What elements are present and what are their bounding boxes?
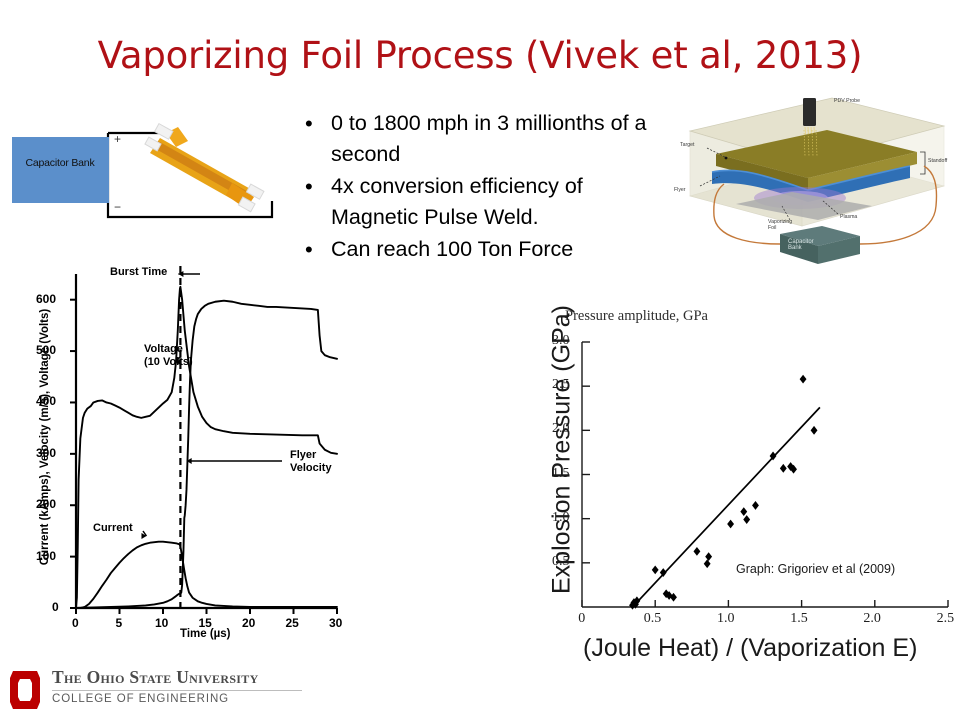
osu-college-name: COLLEGE OF ENGINEERING bbox=[52, 693, 302, 705]
scatter-x-tick: 2.0 bbox=[863, 611, 881, 627]
osc-y-tick: 300 bbox=[36, 446, 56, 460]
osu-wordmark: The Ohio State University COLLEGE OF ENG… bbox=[52, 667, 302, 705]
scatter-y-tick: 3.0 bbox=[552, 333, 570, 349]
scatter-x-tick: 0 bbox=[578, 611, 585, 627]
scatter-y-tick: 0.5 bbox=[552, 554, 570, 570]
pdv-probe-label: PDV Probe bbox=[834, 98, 860, 104]
pressure-scatter-chart: Pressure amplitude, GPa Explosion Pressu… bbox=[525, 300, 960, 660]
foil-specimen bbox=[145, 124, 264, 212]
oscilloscope-chart: Current (kAmps), Velocity (m/s), Voltage… bbox=[0, 246, 345, 656]
page-title: Vaporizing Foil Process (Vivek et al, 20… bbox=[0, 34, 960, 77]
osc-y-tick: 600 bbox=[36, 292, 56, 306]
list-item: • 0 to 1800 mph in 3 millionths of a sec… bbox=[305, 108, 675, 170]
capacitor-bank-diagram: Capacitor Bank + − bbox=[8, 105, 293, 225]
block-o-icon bbox=[8, 668, 42, 712]
scatter-x-tick: 1.5 bbox=[790, 611, 808, 627]
list-item: • Can reach 100 Ton Force bbox=[305, 234, 675, 265]
list-item: • 4x conversion efficiency of Magnetic P… bbox=[305, 171, 675, 233]
osc-y-tick: 100 bbox=[36, 549, 56, 563]
ohio-state-logo: The Ohio State University COLLEGE OF ENG… bbox=[8, 666, 308, 714]
osu-university-name: The Ohio State University bbox=[52, 667, 302, 688]
osc-x-tick: 25 bbox=[286, 616, 299, 630]
osc-x-tick: 5 bbox=[116, 616, 123, 630]
osc-x-tick: 0 bbox=[72, 616, 79, 630]
scatter-x-tick: 1.0 bbox=[717, 611, 735, 627]
osc-x-tick: 15 bbox=[199, 616, 212, 630]
scatter-source-annotation: Graph: Grigoriev et al (2009) bbox=[736, 562, 895, 576]
pdv-probe-body bbox=[803, 98, 816, 126]
osc-annotation: FlyerVelocity bbox=[290, 449, 332, 475]
plasma-label: Plasma bbox=[840, 214, 857, 220]
vaporizing-foil-label: Vaporizing Foil bbox=[768, 219, 792, 231]
osc-y-tick: 400 bbox=[36, 394, 56, 408]
osc-y-tick: 200 bbox=[36, 497, 56, 511]
scatter-y-tick: 2.0 bbox=[552, 421, 570, 437]
bullet-text: 0 to 1800 mph in 3 millionths of a secon… bbox=[331, 108, 675, 170]
schematic-capacitor-bank-label: Capacitor Bank bbox=[788, 239, 814, 251]
scatter-chart-title: Pressure amplitude, GPa bbox=[565, 308, 708, 325]
scatter-y-tick: 1.5 bbox=[552, 466, 570, 482]
scatter-x-tick: 0.5 bbox=[644, 611, 662, 627]
osc-x-tick: 20 bbox=[242, 616, 255, 630]
osc-x-tick: 30 bbox=[329, 616, 342, 630]
slide-canvas: Vaporizing Foil Process (Vivek et al, 20… bbox=[0, 0, 960, 720]
negative-terminal-label: − bbox=[114, 200, 121, 214]
bullet-text: Can reach 100 Ton Force bbox=[331, 234, 573, 265]
osc-annotation: Current bbox=[93, 522, 133, 535]
scatter-x-axis-label: (Joule Heat) / (Vaporization E) bbox=[583, 634, 917, 663]
standoff-label: Standoff bbox=[928, 158, 947, 164]
scatter-x-tick: 2.5 bbox=[937, 611, 955, 627]
scatter-y-tick: 1.0 bbox=[552, 510, 570, 526]
bullet-marker-icon: • bbox=[305, 171, 331, 202]
bullet-marker-icon: • bbox=[305, 108, 331, 139]
schematic-drawing bbox=[672, 86, 960, 268]
bullet-list: • 0 to 1800 mph in 3 millionths of a sec… bbox=[305, 108, 675, 266]
flyer-label: Flyer bbox=[674, 187, 686, 193]
divider bbox=[52, 690, 302, 691]
osc-annotation: Burst Time bbox=[110, 266, 167, 279]
vfw-setup-schematic: PDV Probe Target Flyer Standoff Plasma V… bbox=[672, 86, 960, 268]
osc-y-tick: 0 bbox=[52, 600, 59, 614]
scatter-plot-area bbox=[525, 300, 960, 630]
osc-y-tick: 500 bbox=[36, 343, 56, 357]
scatter-y-tick: 2.5 bbox=[552, 377, 570, 393]
bullet-text: 4x conversion efficiency of Magnetic Pul… bbox=[331, 171, 675, 233]
osc-annotation: Voltage(10 Volts) bbox=[144, 343, 193, 369]
capacitor-bank-label: Capacitor Bank bbox=[16, 157, 104, 169]
capacitor-bank-box bbox=[12, 137, 109, 203]
positive-terminal-label: + bbox=[114, 132, 121, 146]
osc-x-tick: 10 bbox=[155, 616, 168, 630]
target-label: Target bbox=[680, 142, 694, 148]
